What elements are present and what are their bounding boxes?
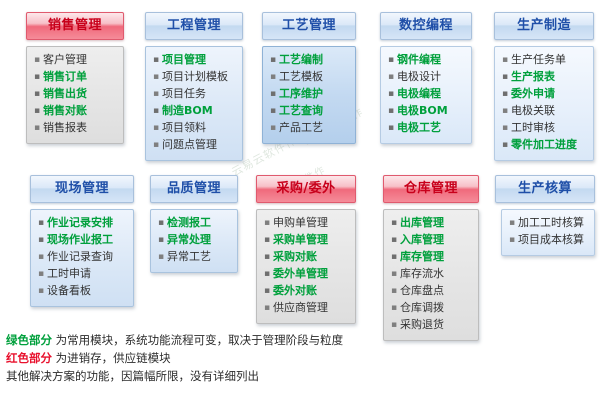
bullet-icon: ▪ xyxy=(150,56,162,65)
module-item[interactable]: ▪检测报工 xyxy=(155,215,233,232)
module-item[interactable]: ▪项目任务 xyxy=(150,86,238,103)
module-item-label: 电极BOM xyxy=(397,105,448,116)
module-item[interactable]: ▪电极BOM xyxy=(385,103,467,120)
module-item-label: 委外对账 xyxy=(273,285,317,296)
module-body: ▪客户管理 ▪销售订单 ▪销售出货 ▪销售对账 ▪销售报表 xyxy=(26,46,124,144)
legend-red-text: 为进销存，供应链模块 xyxy=(56,351,171,365)
bullet-icon: ▪ xyxy=(267,107,279,116)
module-item[interactable]: ▪钢件编程 xyxy=(385,52,467,69)
module-item-label: 电极工艺 xyxy=(397,122,441,133)
module-item-label: 项目计划模板 xyxy=(162,71,228,82)
module-item[interactable]: ▪销售订单 xyxy=(31,69,119,86)
module-item[interactable]: ▪项目领料 xyxy=(150,120,238,137)
module-header[interactable]: 工艺管理 xyxy=(262,12,356,40)
legend-red-key: 红色部分 xyxy=(6,351,52,365)
module-item[interactable]: ▪异常工艺 xyxy=(155,249,233,266)
module-item-label: 电极设计 xyxy=(397,71,441,82)
module-item[interactable]: ▪电极设计 xyxy=(385,69,467,86)
module-item[interactable]: ▪项目管理 xyxy=(150,52,238,69)
module-item[interactable]: ▪项目成本核算 xyxy=(506,232,590,249)
module-cnc[interactable]: 数控编程 ▪钢件编程 ▪电极设计 ▪电极编程 ▪电极BOM ▪电极工艺 xyxy=(380,12,472,144)
bullet-icon: ▪ xyxy=(499,73,511,82)
bullet-icon: ▪ xyxy=(267,124,279,133)
module-item[interactable]: ▪作业记录查询 xyxy=(35,249,129,266)
module-item-label: 现场作业报工 xyxy=(47,234,113,245)
bullet-icon: ▪ xyxy=(150,124,162,133)
bullet-icon: ▪ xyxy=(499,56,511,65)
module-item-label: 库存管理 xyxy=(400,251,444,262)
module-item-label: 工艺查询 xyxy=(279,105,323,116)
bullet-icon: ▪ xyxy=(388,219,400,228)
module-item-label: 电极编程 xyxy=(397,88,441,99)
legend-note-text: 其他解决方案的功能，因篇幅所限，没有详细列出 xyxy=(6,369,259,383)
module-item-label: 委外单管理 xyxy=(273,268,328,279)
bullet-icon: ▪ xyxy=(35,236,47,245)
module-item-label: 工时审核 xyxy=(511,122,555,133)
module-manufacturing[interactable]: 生产制造 ▪生产任务单 ▪生产报表 ▪委外申请 ▪电极关联 ▪工时审核 ▪零件加… xyxy=(494,12,594,161)
bullet-icon: ▪ xyxy=(31,73,43,82)
bullet-icon: ▪ xyxy=(506,219,518,228)
module-item[interactable]: ▪现场作业报工 xyxy=(35,232,129,249)
module-item-label: 委外申请 xyxy=(511,88,555,99)
module-item-label: 工艺模板 xyxy=(279,71,323,82)
legend-green-text: 为常用模块，系统功能流程可变，取决于管理阶段与粒度 xyxy=(56,333,344,347)
module-item[interactable]: ▪委外申请 xyxy=(499,86,589,103)
module-item-label: 作业记录查询 xyxy=(47,251,113,262)
module-warehouse[interactable]: 仓库管理 ▪出库管理 ▪入库管理 ▪库存管理 ▪库存流水 ▪仓库盘点 ▪仓库调拨… xyxy=(383,175,479,341)
module-body: ▪出库管理 ▪入库管理 ▪库存管理 ▪库存流水 ▪仓库盘点 ▪仓库调拨 ▪采购退… xyxy=(383,209,479,341)
bullet-icon: ▪ xyxy=(31,56,43,65)
bullet-icon: ▪ xyxy=(506,236,518,245)
diagram-canvas: 云易云软件作 云易云软件作 云易云软件作 销售管理 ▪客户管理 ▪销售订单 ▪销… xyxy=(0,0,600,400)
module-item[interactable]: ▪异常处理 xyxy=(155,232,233,249)
bullet-icon: ▪ xyxy=(499,124,511,133)
bullet-icon: ▪ xyxy=(155,236,167,245)
legend-line-note: 其他解决方案的功能，因篇幅所限，没有详细列出 xyxy=(6,368,426,386)
module-item[interactable]: ▪工时申请 xyxy=(35,266,129,283)
module-item[interactable]: ▪作业记录安排 xyxy=(35,215,129,232)
module-item-label: 制造BOM xyxy=(162,105,213,116)
bullet-icon: ▪ xyxy=(385,73,397,82)
module-body: ▪工艺编制 ▪工艺模板 ▪工序维护 ▪工艺查询 ▪产品工艺 xyxy=(262,46,356,144)
module-item-label: 项目管理 xyxy=(162,54,206,65)
module-item-label: 问题点管理 xyxy=(162,139,217,150)
module-item[interactable]: ▪仓库盘点 xyxy=(388,283,474,300)
module-item-label: 仓库调拨 xyxy=(400,302,444,313)
module-item-label: 项目任务 xyxy=(162,88,206,99)
module-item-label: 工时申请 xyxy=(47,268,91,279)
bullet-icon: ▪ xyxy=(388,321,400,330)
bullet-icon: ▪ xyxy=(385,124,397,133)
bullet-icon: ▪ xyxy=(267,56,279,65)
module-item[interactable]: ▪工时审核 xyxy=(499,120,589,137)
bullet-icon: ▪ xyxy=(385,56,397,65)
bullet-icon: ▪ xyxy=(388,253,400,262)
module-item-label: 项目成本核算 xyxy=(518,234,584,245)
module-header[interactable]: 品质管理 xyxy=(150,175,238,203)
bullet-icon: ▪ xyxy=(261,219,273,228)
module-header[interactable]: 销售管理 xyxy=(26,12,124,40)
module-item-label: 异常工艺 xyxy=(167,251,211,262)
bullet-icon: ▪ xyxy=(150,73,162,82)
bullet-icon: ▪ xyxy=(388,236,400,245)
module-item-label: 销售对账 xyxy=(43,105,87,116)
module-item-label: 异常处理 xyxy=(167,234,211,245)
module-body: ▪申购单管理 ▪采购单管理 ▪采购对账 ▪委外单管理 ▪委外对账 ▪供应商管理 xyxy=(256,209,356,324)
module-body: ▪项目管理 ▪项目计划模板 ▪项目任务 ▪制造BOM ▪项目领料 ▪问题点管理 xyxy=(145,46,243,161)
bullet-icon: ▪ xyxy=(150,90,162,99)
module-item[interactable]: ▪仓库调拨 xyxy=(388,300,474,317)
module-item[interactable]: ▪工艺编制 xyxy=(267,52,351,69)
module-item[interactable]: ▪供应商管理 xyxy=(261,300,351,317)
bullet-icon: ▪ xyxy=(385,90,397,99)
module-item[interactable]: ▪工艺模板 xyxy=(267,69,351,86)
bullet-icon: ▪ xyxy=(499,141,511,150)
module-item[interactable]: ▪客户管理 xyxy=(31,52,119,69)
module-item[interactable]: ▪问题点管理 xyxy=(150,137,238,154)
bullet-icon: ▪ xyxy=(35,219,47,228)
module-item[interactable]: ▪委外单管理 xyxy=(261,266,351,283)
module-item-label: 出库管理 xyxy=(400,217,444,228)
module-item-label: 工艺编制 xyxy=(279,54,323,65)
module-item-label: 设备看板 xyxy=(47,285,91,296)
module-item-label: 检测报工 xyxy=(167,217,211,228)
module-header[interactable]: 生产制造 xyxy=(494,12,594,40)
module-engineering[interactable]: 工程管理 ▪项目管理 ▪项目计划模板 ▪项目任务 ▪制造BOM ▪项目领料 ▪问… xyxy=(145,12,243,161)
bullet-icon: ▪ xyxy=(499,107,511,116)
bullet-icon: ▪ xyxy=(385,107,397,116)
module-header[interactable]: 采购/委外 xyxy=(256,175,356,203)
module-item-label: 钢件编程 xyxy=(397,54,441,65)
bullet-icon: ▪ xyxy=(155,219,167,228)
module-item-label: 入库管理 xyxy=(400,234,444,245)
module-header[interactable]: 生产核算 xyxy=(495,175,595,203)
bullet-icon: ▪ xyxy=(35,253,47,262)
module-item[interactable]: ▪采购单管理 xyxy=(261,232,351,249)
module-item[interactable]: ▪库存流水 xyxy=(388,266,474,283)
bullet-icon: ▪ xyxy=(499,90,511,99)
bullet-icon: ▪ xyxy=(388,270,400,279)
module-item[interactable]: ▪加工工时核算 xyxy=(506,215,590,232)
module-item[interactable]: ▪制造BOM xyxy=(150,103,238,120)
legend-line-green: 绿色部分 为常用模块，系统功能流程可变，取决于管理阶段与粒度 xyxy=(6,332,426,350)
legend-line-red: 红色部分 为进销存，供应链模块 xyxy=(6,350,426,368)
module-item-label: 采购退货 xyxy=(400,319,444,330)
module-item[interactable]: ▪出库管理 xyxy=(388,215,474,232)
module-item[interactable]: ▪设备看板 xyxy=(35,283,129,300)
module-purchasing[interactable]: 采购/委外 ▪申购单管理 ▪采购单管理 ▪采购对账 ▪委外单管理 ▪委外对账 ▪… xyxy=(256,175,356,324)
module-header[interactable]: 工程管理 xyxy=(145,12,243,40)
module-item-label: 生产任务单 xyxy=(511,54,566,65)
module-header[interactable]: 仓库管理 xyxy=(383,175,479,203)
module-item-label: 项目领料 xyxy=(162,122,206,133)
module-item[interactable]: ▪生产任务单 xyxy=(499,52,589,69)
legend: 绿色部分 为常用模块，系统功能流程可变，取决于管理阶段与粒度 红色部分 为进销存… xyxy=(6,332,426,385)
bullet-icon: ▪ xyxy=(31,124,43,133)
bullet-icon: ▪ xyxy=(31,90,43,99)
module-header[interactable]: 现场管理 xyxy=(30,175,134,203)
module-item[interactable]: ▪采购对账 xyxy=(261,249,351,266)
module-item[interactable]: ▪入库管理 xyxy=(388,232,474,249)
legend-green-key: 绿色部分 xyxy=(6,333,52,347)
bullet-icon: ▪ xyxy=(261,287,273,296)
module-body: ▪加工工时核算 ▪项目成本核算 xyxy=(501,209,595,256)
module-item[interactable]: ▪工序维护 xyxy=(267,86,351,103)
bullet-icon: ▪ xyxy=(388,287,400,296)
module-body: ▪检测报工 ▪异常处理 ▪异常工艺 xyxy=(150,209,238,273)
bullet-icon: ▪ xyxy=(261,270,273,279)
module-item[interactable]: ▪委外对账 xyxy=(261,283,351,300)
bullet-icon: ▪ xyxy=(31,107,43,116)
module-body: ▪钢件编程 ▪电极设计 ▪电极编程 ▪电极BOM ▪电极工艺 xyxy=(380,46,472,144)
module-item-label: 客户管理 xyxy=(43,54,87,65)
module-item-label: 加工工时核算 xyxy=(518,217,584,228)
bullet-icon: ▪ xyxy=(35,287,47,296)
module-item-label: 销售订单 xyxy=(43,71,87,82)
module-item-label: 采购单管理 xyxy=(273,234,328,245)
bullet-icon: ▪ xyxy=(261,253,273,262)
module-shopfloor[interactable]: 现场管理 ▪作业记录安排 ▪现场作业报工 ▪作业记录查询 ▪工时申请 ▪设备看板 xyxy=(30,175,134,307)
module-process[interactable]: 工艺管理 ▪工艺编制 ▪工艺模板 ▪工序维护 ▪工艺查询 ▪产品工艺 xyxy=(262,12,356,144)
module-item-label: 电极关联 xyxy=(511,105,555,116)
module-item-label: 供应商管理 xyxy=(273,302,328,313)
module-body: ▪作业记录安排 ▪现场作业报工 ▪作业记录查询 ▪工时申请 ▪设备看板 xyxy=(30,209,134,307)
module-quality[interactable]: 品质管理 ▪检测报工 ▪异常处理 ▪异常工艺 xyxy=(150,175,238,273)
module-item-label: 生产报表 xyxy=(511,71,555,82)
module-item[interactable]: ▪销售报表 xyxy=(31,120,119,137)
module-body: ▪生产任务单 ▪生产报表 ▪委外申请 ▪电极关联 ▪工时审核 ▪零件加工进度 xyxy=(494,46,594,161)
bullet-icon: ▪ xyxy=(261,236,273,245)
module-item-label: 销售出货 xyxy=(43,88,87,99)
module-item-label: 零件加工进度 xyxy=(511,139,577,150)
bullet-icon: ▪ xyxy=(150,141,162,150)
module-item[interactable]: ▪库存管理 xyxy=(388,249,474,266)
module-item-label: 库存流水 xyxy=(400,268,444,279)
module-item-label: 工序维护 xyxy=(279,88,323,99)
module-item-label: 产品工艺 xyxy=(279,122,323,133)
module-header[interactable]: 数控编程 xyxy=(380,12,472,40)
module-item[interactable]: ▪生产报表 xyxy=(499,69,589,86)
module-item[interactable]: ▪电极工艺 xyxy=(385,120,467,137)
module-item[interactable]: ▪产品工艺 xyxy=(267,120,351,137)
module-item[interactable]: ▪销售对账 xyxy=(31,103,119,120)
bullet-icon: ▪ xyxy=(261,304,273,313)
bullet-icon: ▪ xyxy=(35,270,47,279)
module-item-label: 销售报表 xyxy=(43,122,87,133)
module-item[interactable]: ▪电极编程 xyxy=(385,86,467,103)
module-item-label: 仓库盘点 xyxy=(400,285,444,296)
module-sales[interactable]: 销售管理 ▪客户管理 ▪销售订单 ▪销售出货 ▪销售对账 ▪销售报表 xyxy=(26,12,124,144)
module-item[interactable]: ▪项目计划模板 xyxy=(150,69,238,86)
module-item[interactable]: ▪申购单管理 xyxy=(261,215,351,232)
bullet-icon: ▪ xyxy=(150,107,162,116)
bullet-icon: ▪ xyxy=(267,73,279,82)
module-item-label: 采购对账 xyxy=(273,251,317,262)
module-item-label: 作业记录安排 xyxy=(47,217,113,228)
module-item[interactable]: ▪工艺查询 xyxy=(267,103,351,120)
bullet-icon: ▪ xyxy=(267,90,279,99)
module-item[interactable]: ▪电极关联 xyxy=(499,103,589,120)
module-costing[interactable]: 生产核算 ▪加工工时核算 ▪项目成本核算 xyxy=(495,175,595,256)
bullet-icon: ▪ xyxy=(155,253,167,262)
module-item-label: 申购单管理 xyxy=(273,217,328,228)
module-item[interactable]: ▪销售出货 xyxy=(31,86,119,103)
bullet-icon: ▪ xyxy=(388,304,400,313)
module-item[interactable]: ▪零件加工进度 xyxy=(499,137,589,154)
